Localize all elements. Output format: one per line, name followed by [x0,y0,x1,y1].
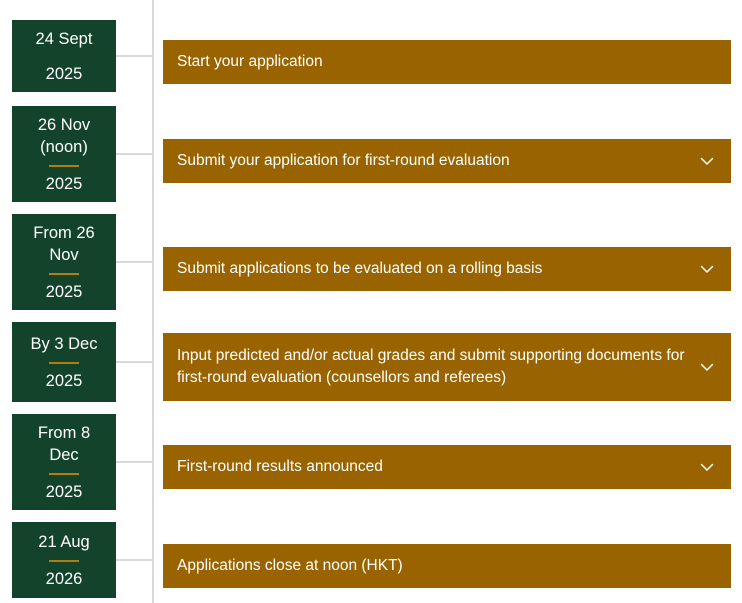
timeline-connector [116,261,154,263]
date-divider [49,273,79,275]
timeline-date-label: 26 Nov (noon) [38,114,90,158]
timeline-date-label: By 3 Dec [31,333,98,355]
timeline-connector [116,361,154,363]
timeline-date-card: By 3 Dec 2025 [12,322,116,402]
timeline-date-card: 21 Aug 2026 [12,522,116,598]
timeline-year-label: 2025 [46,174,83,194]
timeline-spine [152,0,154,603]
timeline-date-card: From 8 Dec 2025 [12,414,116,510]
timeline-year-label: 2026 [46,569,83,589]
timeline-event-label: Input predicted and/or actual grades and… [177,345,691,389]
chevron-down-icon[interactable] [699,359,715,375]
timeline-event-bar[interactable]: First-round results announced [163,445,731,489]
timeline-year-label: 2025 [46,282,83,302]
timeline-event-bar[interactable]: Start your application [163,40,731,84]
timeline-year-label: 2025 [46,371,83,391]
timeline-event-label: First-round results announced [177,456,383,478]
timeline-date-label: From 8 Dec [38,422,90,466]
timeline-event-label: Submit your application for first-round … [177,150,510,172]
date-divider [49,473,79,475]
timeline-event-label: Start your application [177,51,323,73]
chevron-down-icon[interactable] [699,459,715,475]
date-divider [49,560,79,562]
timeline-date-card: 24 Sept 2025 [12,20,116,92]
chevron-down-icon[interactable] [699,153,715,169]
timeline-connector [116,153,154,155]
timeline-date-label: 24 Sept [36,28,93,50]
timeline-event-bar[interactable]: Submit applications to be evaluated on a… [163,247,731,291]
timeline-connector [116,461,154,463]
timeline-date-card: 26 Nov (noon) 2025 [12,106,116,202]
timeline-event-bar[interactable]: Submit your application for first-round … [163,139,731,183]
application-timeline: 24 Sept 2025 Start your application 26 N… [0,0,742,603]
timeline-event-label: Applications close at noon (HKT) [177,555,403,577]
timeline-date-label: From 26 Nov [33,222,94,266]
date-divider [49,165,79,167]
timeline-connector [116,559,154,561]
timeline-event-bar[interactable]: Applications close at noon (HKT) [163,544,731,588]
timeline-date-label: 21 Aug [38,531,89,553]
timeline-connector [116,55,154,57]
timeline-event-label: Submit applications to be evaluated on a… [177,258,542,280]
date-divider [49,362,79,364]
timeline-year-label: 2025 [46,64,83,84]
timeline-date-card: From 26 Nov 2025 [12,214,116,310]
timeline-year-label: 2025 [46,482,83,502]
chevron-down-icon[interactable] [699,261,715,277]
timeline-event-bar[interactable]: Input predicted and/or actual grades and… [163,333,731,401]
